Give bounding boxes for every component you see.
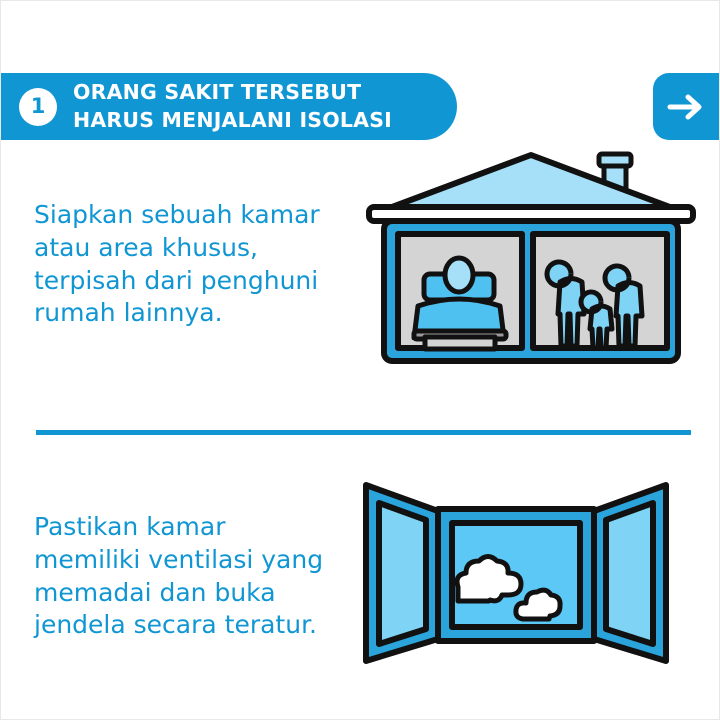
step-header-banner: 1 ORANG SAKIT TERSEBUT HARUS MENJALANI I… — [1, 73, 457, 140]
ventilation-instruction-text: Pastikan kamar memiliki ventilasi yang m… — [34, 511, 354, 642]
isolation-instruction-text: Siapkan sebuah kamar atau area khusus, t… — [34, 199, 364, 330]
section-divider — [36, 430, 691, 435]
left-shutter — [366, 485, 438, 661]
step-number-badge: 1 — [19, 88, 57, 126]
page-title: ORANG SAKIT TERSEBUT HARUS MENJALANI ISO… — [73, 79, 392, 133]
right-shutter — [594, 485, 666, 661]
arrow-right-icon — [666, 92, 706, 122]
next-button[interactable] — [653, 73, 719, 140]
open-window-illustration — [346, 471, 686, 671]
infographic-page: 1 ORANG SAKIT TERSEBUT HARUS MENJALANI I… — [0, 0, 720, 720]
house-with-isolated-room-illustration — [361, 141, 701, 381]
